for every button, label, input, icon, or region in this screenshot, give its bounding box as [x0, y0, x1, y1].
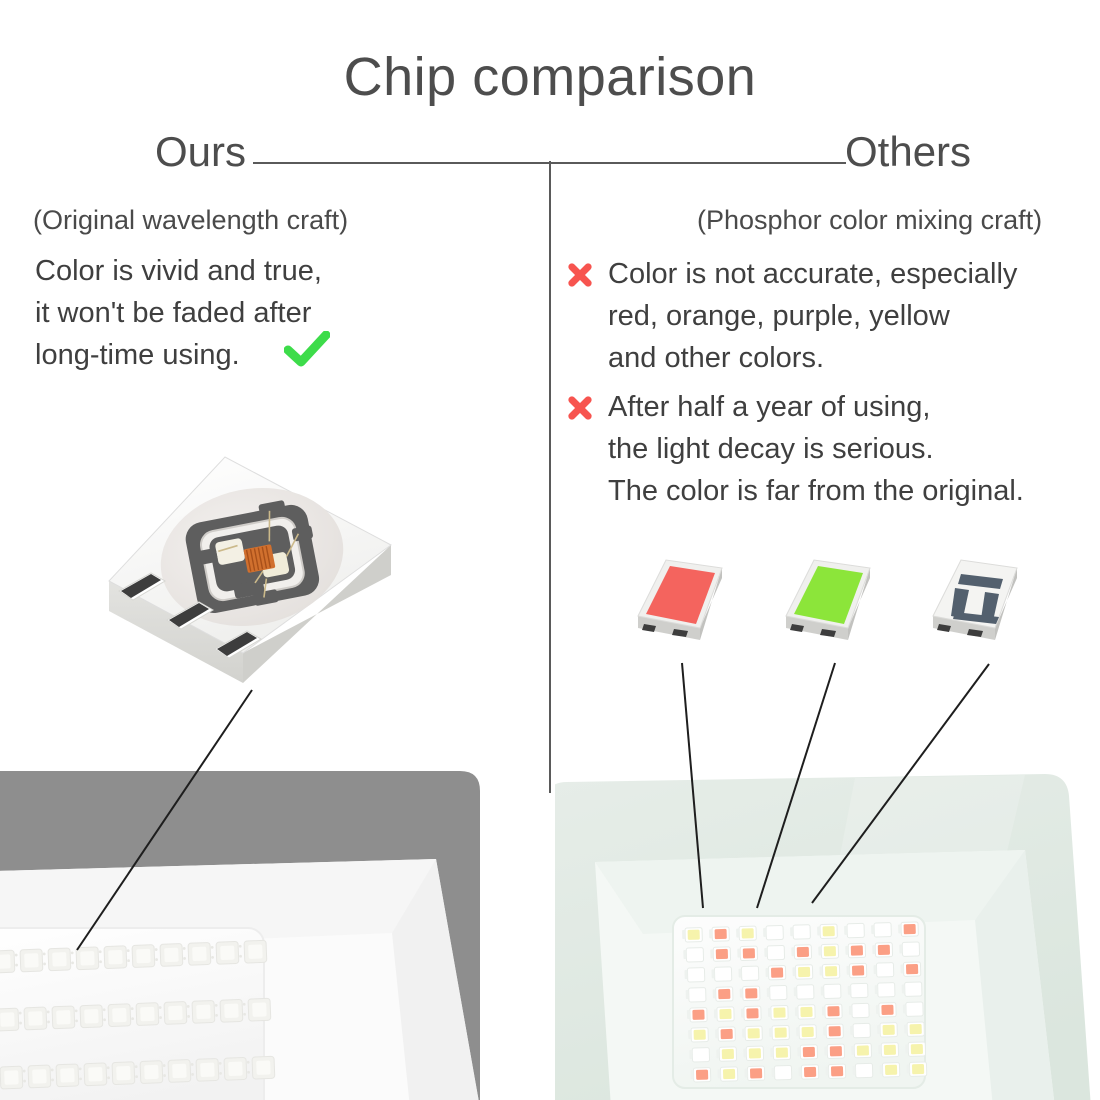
others-bullet-1: Color is not accurate, especially red, o… [565, 253, 1017, 379]
others-bullet-2-text: After half a year of using, the light de… [608, 386, 1024, 512]
smd-chip-red-image [630, 548, 730, 648]
floodlight-mint-image [555, 758, 1100, 1100]
header-rule-right [550, 162, 846, 164]
others-bullet-2: After half a year of using, the light de… [565, 386, 1024, 512]
craft-label-ours: (Original wavelength craft) [33, 205, 348, 236]
smd-chip-white-image [925, 548, 1025, 648]
column-heading-ours: Ours [155, 128, 246, 176]
check-mark-icon [284, 331, 330, 367]
page-title: Chip comparison [0, 46, 1100, 108]
others-bullet-1-text: Color is not accurate, especially red, o… [608, 253, 1017, 379]
ours-description: Color is vivid and true, it won't be fad… [35, 250, 322, 376]
smd-chip-green-image [778, 548, 878, 648]
craft-label-others: (Phosphor color mixing craft) [697, 205, 1042, 236]
rgb-led-package-image [95, 445, 405, 695]
column-divider [549, 161, 551, 793]
column-heading-others: Others [845, 128, 971, 176]
comparison-infographic: Chip comparison Ours Others (Original wa… [0, 0, 1100, 1100]
x-mark-icon [565, 393, 595, 423]
floodlight-gray-image [0, 763, 515, 1100]
x-mark-icon [565, 260, 595, 290]
header-rule-left [253, 162, 550, 164]
